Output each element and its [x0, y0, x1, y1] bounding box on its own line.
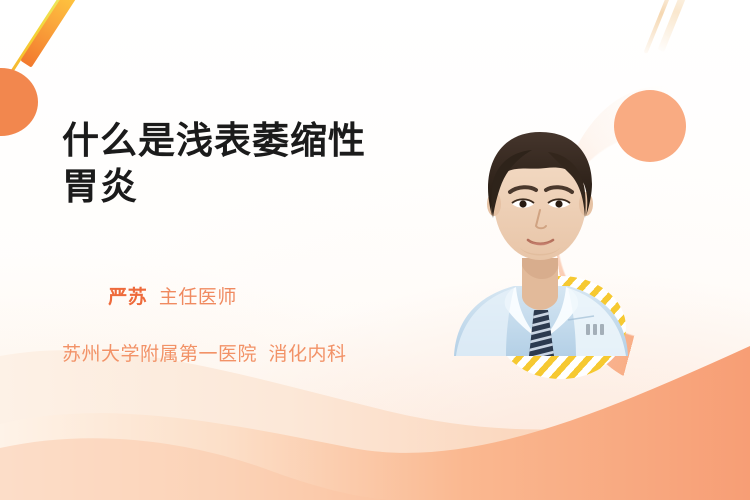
- doctor-affiliation: 苏州大学附属第一医院 消化内科: [62, 340, 442, 370]
- doctor-role: [147, 287, 159, 308]
- video-cover-card: 什么是浅表萎缩性 胃炎 严苏 主任医师 苏州大学附属第一医院 消化内科: [0, 0, 750, 500]
- page-title: 什么是浅表萎缩性 胃炎: [62, 118, 442, 210]
- doctor-credits: 严苏 主任医师 苏州大学附属第一医院 消化内科: [62, 256, 442, 370]
- doctor-role-label: 主任医师: [159, 287, 237, 308]
- doctor-name-and-role: 严苏 主任医师: [62, 256, 442, 340]
- doctor-name: 严苏: [108, 287, 147, 308]
- doctor-portrait: [436, 96, 644, 356]
- cover-text-block: 什么是浅表萎缩性 胃炎 严苏 主任医师 苏州大学附属第一医院 消化内科: [62, 118, 442, 370]
